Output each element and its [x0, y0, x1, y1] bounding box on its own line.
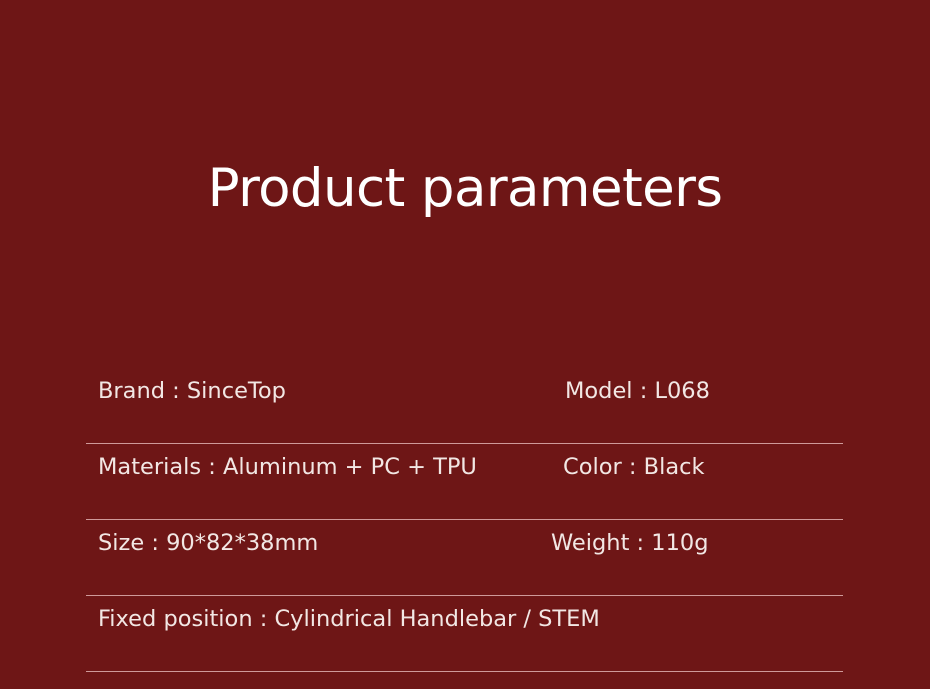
spec-row-cells: Brand : SinceTop Model : L068	[86, 368, 843, 444]
spec-fixed-position: Fixed position : Cylindrical Handlebar /…	[98, 596, 843, 641]
page-title-block: Product parameters	[0, 158, 930, 220]
table-row: Size : 90*82*38mm Weight : 110g	[86, 520, 843, 596]
spec-brand: Brand : SinceTop	[98, 368, 286, 413]
spec-row-cells: Size : 90*82*38mm Weight : 110g	[86, 520, 843, 596]
page-title: Product parameters	[208, 158, 723, 220]
spec-materials: Materials : Aluminum + PC + TPU	[98, 444, 477, 489]
table-row: Fixed position : Cylindrical Handlebar /…	[86, 596, 843, 672]
row-divider	[86, 671, 843, 672]
table-row: Materials : Aluminum + PC + TPU Color : …	[86, 444, 843, 520]
spec-model: Model : L068	[565, 368, 710, 413]
spec-row-cells: Materials : Aluminum + PC + TPU Color : …	[86, 444, 843, 520]
product-spec-table: Brand : SinceTop Model : L068 Materials …	[86, 368, 843, 672]
spec-weight: Weight : 110g	[551, 520, 709, 565]
spec-size: Size : 90*82*38mm	[98, 520, 318, 565]
table-row: Brand : SinceTop Model : L068	[86, 368, 843, 444]
spec-row-cells: Fixed position : Cylindrical Handlebar /…	[86, 596, 843, 672]
spec-color: Color : Black	[563, 444, 705, 489]
product-parameters-page: Product parameters Brand : SinceTop Mode…	[0, 0, 930, 689]
